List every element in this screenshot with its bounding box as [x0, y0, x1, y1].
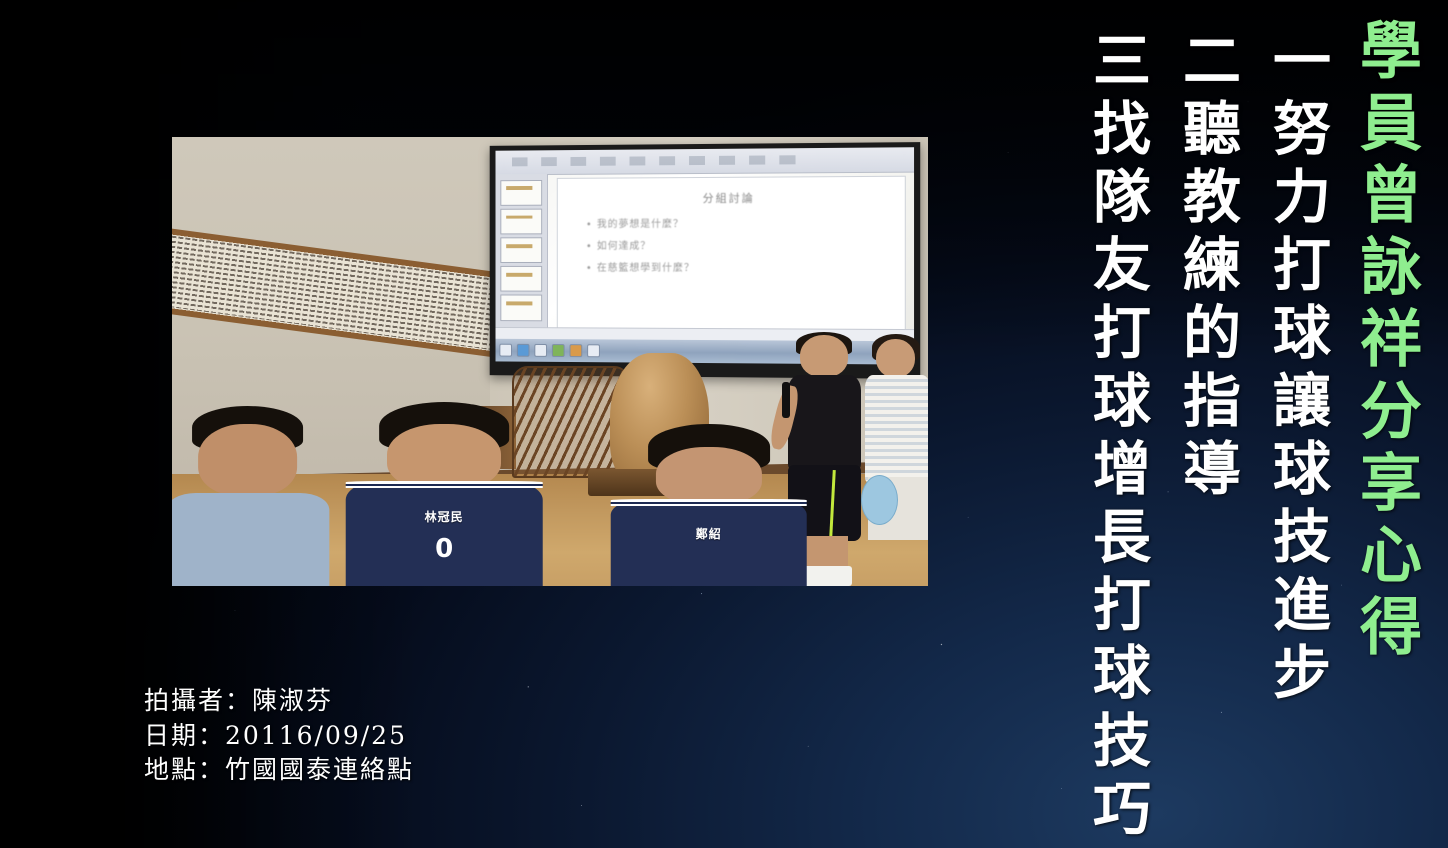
jersey-name-label: 林冠民 [425, 508, 464, 525]
seated-student-right: 鄭紹 [610, 424, 807, 586]
jersey-number-label: 0 [435, 534, 453, 564]
attendee-head [876, 339, 915, 378]
photographer-line: 拍攝者：陳淑芬 [144, 684, 414, 719]
seated-student-center: 林冠民 0 [346, 402, 543, 586]
projected-display: 分組討論 我的夢想是什麼？ 如何達成？ 在慈籃想學到什麼？ [495, 147, 913, 365]
powerpoint-ribbon [495, 147, 913, 175]
photo-credit-block: 拍攝者：陳淑芬 日期：20116/09/25 地點：竹國國泰連絡點 [144, 684, 414, 788]
media-icon [552, 344, 565, 357]
seated-student-left [172, 406, 323, 586]
projected-slide-bullet: 我的夢想是什麼？ [586, 215, 883, 231]
jersey-collar-trim [346, 481, 543, 488]
adult-attendee [864, 339, 928, 581]
projected-slide-content: 分組討論 我的夢想是什麼？ 如何達成？ 在慈籃想學到什麼？ [556, 175, 905, 336]
microphone [782, 382, 790, 417]
slide-thumbnail [500, 237, 542, 263]
slide-point-1: 一努力打球讓球技進步 [1268, 30, 1326, 710]
slide-thumbnail [500, 266, 542, 292]
student-head [198, 424, 298, 496]
slide-point-2: 二聽教練的指導 [1178, 30, 1236, 506]
start-button-icon [499, 344, 512, 357]
projected-slide-title: 分組討論 [578, 189, 883, 206]
student-jersey: 林冠民 0 [346, 481, 543, 586]
presentation-slide: 分組討論 我的夢想是什麼？ 如何達成？ 在慈籃想學到什麼？ [0, 0, 1448, 848]
date-line: 日期：20116/09/25 [144, 719, 414, 754]
jersey-collar-trim [610, 499, 807, 506]
student-shirt [172, 493, 329, 586]
presenter-head [800, 335, 849, 378]
slide-thumbnail [500, 295, 542, 321]
location-line: 地點：竹國國泰連絡點 [144, 753, 414, 788]
student-head [656, 447, 762, 505]
slide-title-column: 學員曾詠祥分享心得 [1354, 18, 1416, 666]
attendee-striped-shirt [865, 375, 928, 482]
student-jersey: 鄭紹 [610, 499, 807, 586]
slide-point-3: 三找隊友打球增長打球技巧 [1088, 30, 1146, 846]
folder-icon [534, 344, 547, 357]
projected-slide-bullet: 在慈籃想學到什麼？ [586, 259, 883, 274]
event-photograph: 分組討論 我的夢想是什麼？ 如何達成？ 在慈籃想學到什麼？ [172, 137, 928, 586]
slide-thumbnail [500, 208, 542, 234]
browser-icon [517, 344, 530, 357]
powerpoint-thumbnail-pane [495, 173, 548, 338]
app-icon [569, 344, 582, 357]
app-icon [587, 344, 600, 357]
jersey-name-label: 鄭紹 [696, 525, 722, 542]
projected-slide-bullet: 如何達成？ [586, 237, 883, 252]
slide-thumbnail [500, 179, 542, 205]
